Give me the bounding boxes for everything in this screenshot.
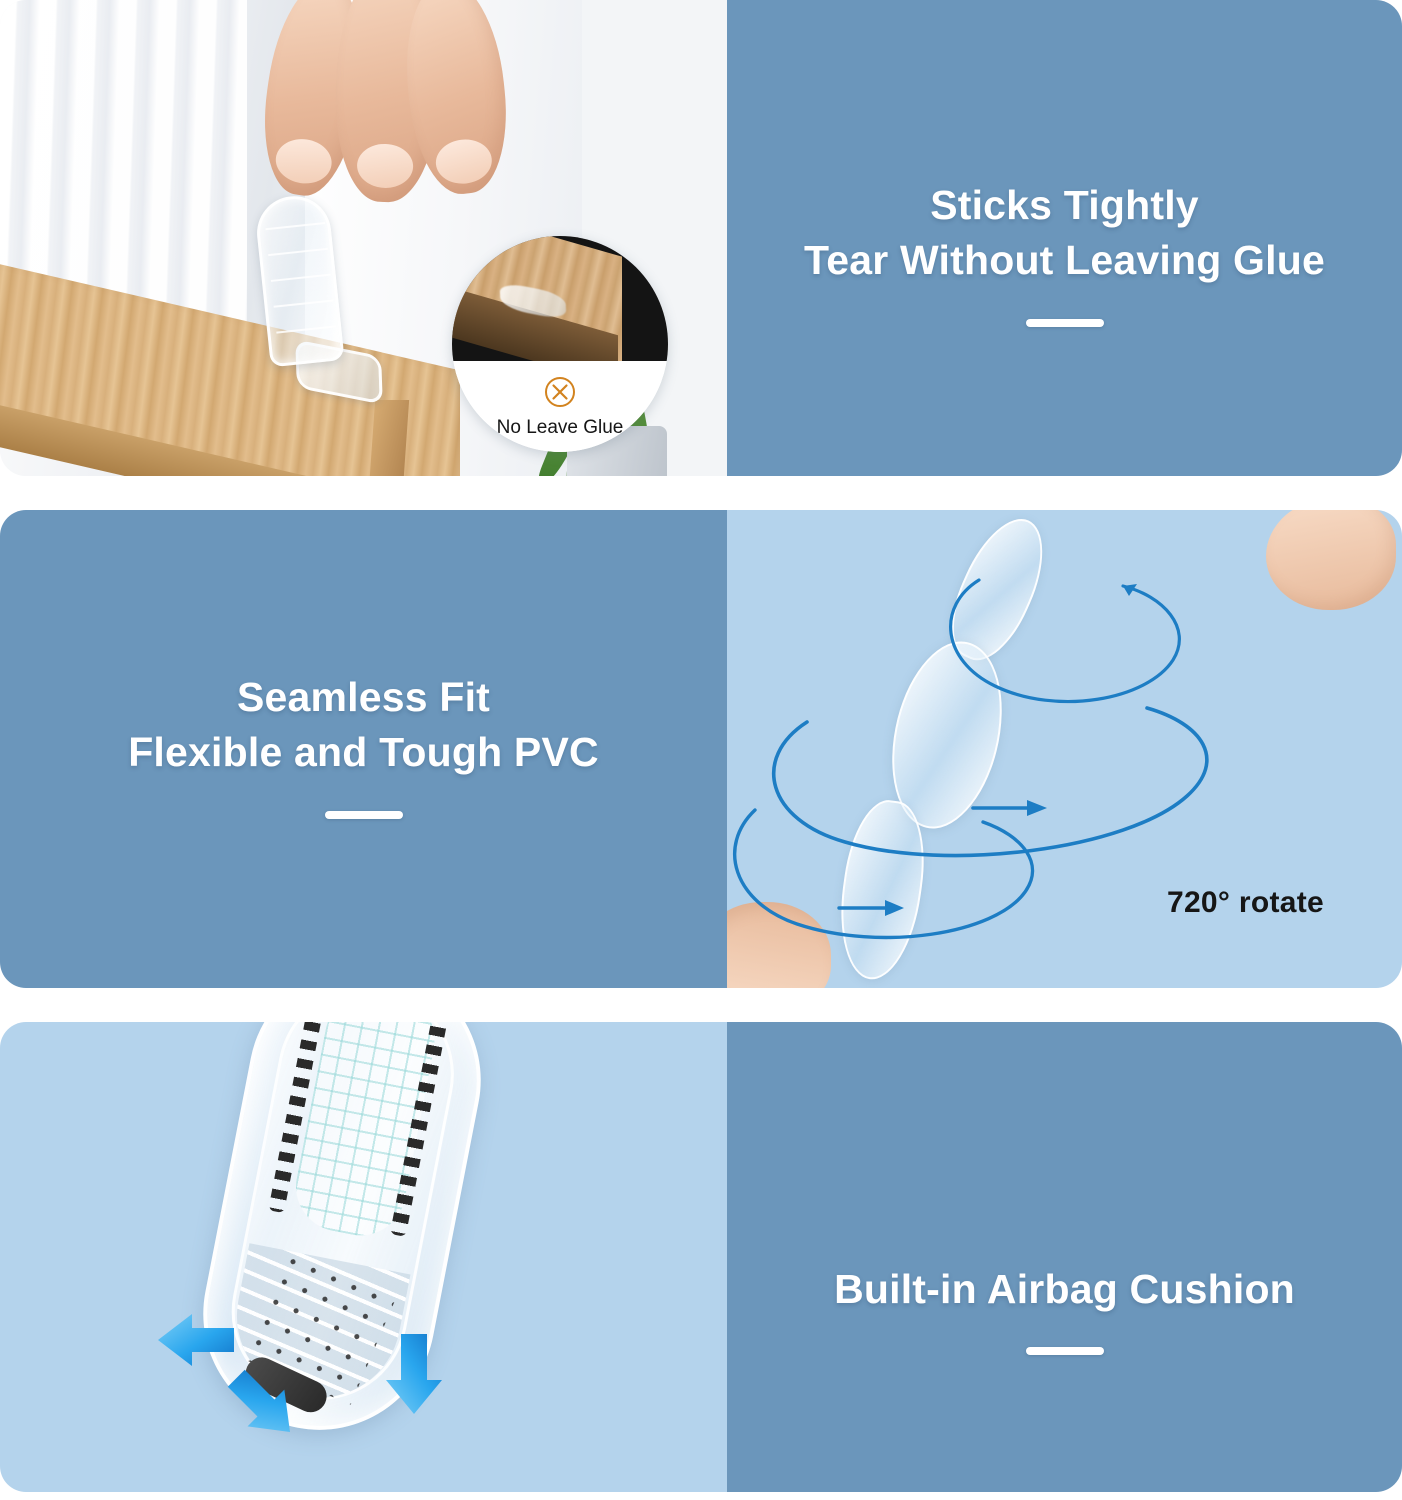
corner-guard-airbag-photo <box>0 1022 727 1492</box>
text-panel-seamless-fit: Seamless Fit Flexible and Tough PVC <box>0 510 727 988</box>
impact-arrow-down <box>386 1334 442 1414</box>
heading-line-2: Tear Without Leaving Glue <box>727 233 1402 288</box>
impact-arrow-lower-left <box>218 1360 309 1451</box>
callout-zoom-photo <box>452 236 668 361</box>
fingernail <box>434 137 494 187</box>
impact-arrows-overlay <box>0 1022 727 1492</box>
heading-underline-rule <box>1026 319 1104 327</box>
heading-underline-rule <box>1026 1347 1104 1355</box>
hand-photo <box>252 0 512 220</box>
tape-rib <box>271 274 331 282</box>
heading-line-1: Sticks Tightly <box>727 178 1402 233</box>
infographic-sheet: No Leave Glue Sticks Tightly Tear Withou… <box>0 0 1402 1500</box>
heading-block-sticks-tightly: Sticks Tightly Tear Without Leaving Glue <box>727 178 1402 327</box>
heading-block-airbag-cushion: Built-in Airbag Cushion <box>727 1262 1402 1355</box>
tape-rib <box>268 248 328 256</box>
rotation-arrow-upper <box>951 580 1180 702</box>
wooden-table-leg <box>369 400 409 476</box>
hand-peeling-tape-from-table-photo: No Leave Glue <box>0 0 727 476</box>
photo-panel-corner-guard <box>0 1022 727 1492</box>
heading-line-2: Flexible and Tough PVC <box>0 725 727 780</box>
photo-panel-peeling-tape: No Leave Glue <box>0 0 727 476</box>
feature-row-sticks-tightly: No Leave Glue Sticks Tightly Tear Withou… <box>0 0 1402 476</box>
callout-label-area: No Leave Glue <box>452 361 668 452</box>
no-leave-glue-callout: No Leave Glue <box>452 236 668 452</box>
fingernail <box>356 143 414 189</box>
rotate-caption: 720° rotate <box>1167 886 1324 920</box>
heading-line-1: Built-in Airbag Cushion <box>727 1262 1402 1317</box>
twisted-tape-rotation-photo: 720° rotate <box>727 510 1402 988</box>
heading-underline-rule <box>325 811 403 819</box>
impact-arrow-left <box>158 1314 234 1366</box>
photo-panel-twisted-tape: 720° rotate <box>727 510 1402 988</box>
heading-line-1: Seamless Fit <box>0 670 727 725</box>
rotation-arrow-lower <box>735 810 1033 937</box>
feature-row-airbag-cushion: Built-in Airbag Cushion <box>0 1022 1402 1492</box>
text-panel-sticks-tightly: Sticks Tightly Tear Without Leaving Glue <box>727 0 1402 476</box>
text-panel-airbag-cushion: Built-in Airbag Cushion <box>727 1022 1402 1492</box>
circle-x-icon <box>543 375 577 409</box>
tape-rib <box>265 222 325 230</box>
heading-block-seamless-fit: Seamless Fit Flexible and Tough PVC <box>0 670 727 819</box>
tape-rib <box>276 325 336 333</box>
rotation-arrow-middle <box>774 708 1207 856</box>
fingernail <box>273 136 335 187</box>
feature-row-seamless-fit: Seamless Fit Flexible and Tough PVC <box>0 510 1402 988</box>
tape-rib <box>274 300 334 308</box>
callout-label: No Leave Glue <box>497 417 624 439</box>
